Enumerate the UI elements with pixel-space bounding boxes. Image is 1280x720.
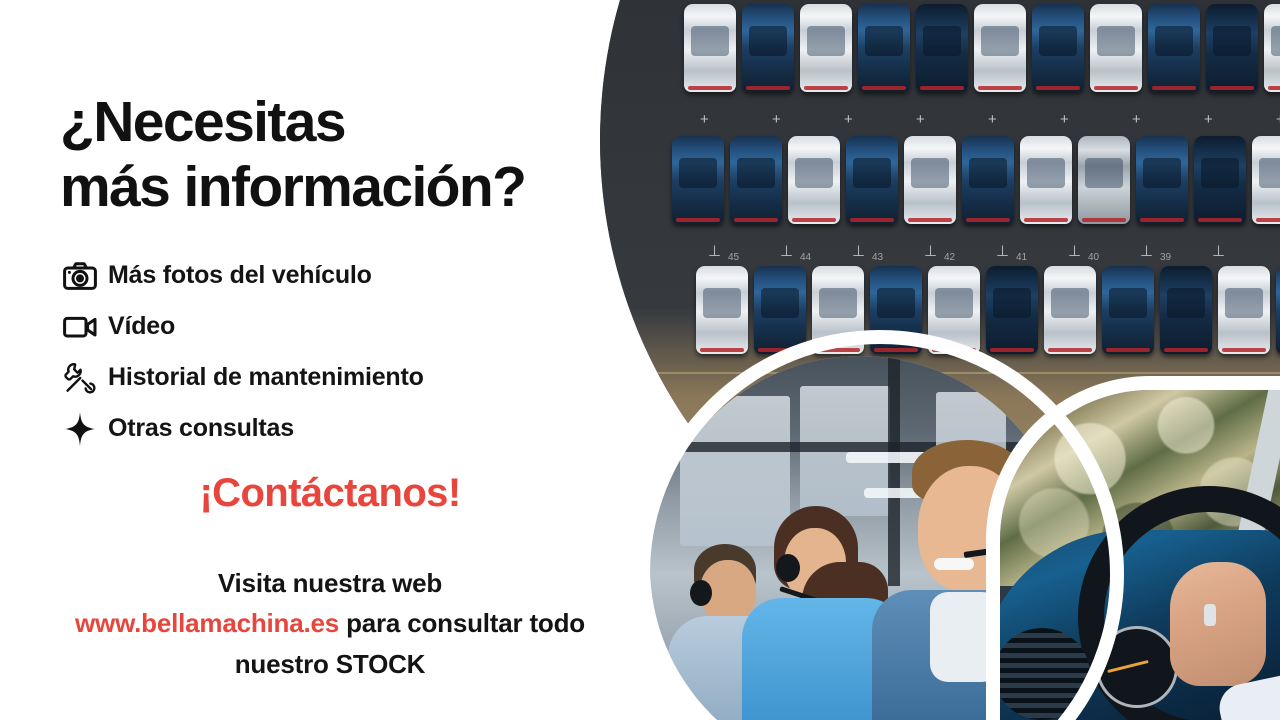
cta-text: ¡Contáctanos!	[0, 471, 660, 516]
footer-line-2-rest: para consultar todo	[339, 608, 585, 638]
footer-line-2: www.bellamachina.es para consultar todo	[0, 603, 660, 643]
feature-item-other: Otras consultas	[52, 403, 652, 454]
feature-label: Vídeo	[108, 312, 175, 341]
footer-line-3: nuestro STOCK	[0, 644, 660, 684]
cta-label: ¡Contáctanos!	[199, 471, 460, 515]
feature-list: Más fotos del vehículo Vídeo	[52, 250, 652, 454]
website-url[interactable]: www.bellamachina.es	[75, 608, 339, 638]
page-title: ¿Necesitas más información?	[60, 90, 680, 219]
feature-item-maintenance: Historial de mantenimiento	[52, 352, 652, 403]
footer-text: Visita nuestra web www.bellamachina.es p…	[0, 563, 660, 684]
video-camera-icon	[52, 314, 108, 340]
feature-label: Más fotos del vehículo	[108, 261, 372, 290]
sparkle-star-icon	[52, 412, 108, 446]
banner-canvas: + + + + + + + + + + +	[0, 0, 1280, 720]
feature-label: Otras consultas	[108, 414, 294, 443]
footer-line-1: Visita nuestra web	[0, 563, 660, 603]
headline-line-1: ¿Necesitas	[60, 90, 345, 154]
feature-item-video: Vídeo	[52, 301, 652, 352]
text-column: ¿Necesitas más información? Más fotos de…	[0, 0, 1280, 720]
wrench-tools-icon	[52, 361, 108, 395]
headline-line-2: más información?	[60, 155, 680, 219]
feature-label: Historial de mantenimiento	[108, 363, 424, 392]
feature-item-photos: Más fotos del vehículo	[52, 250, 652, 301]
camera-icon	[52, 262, 108, 290]
